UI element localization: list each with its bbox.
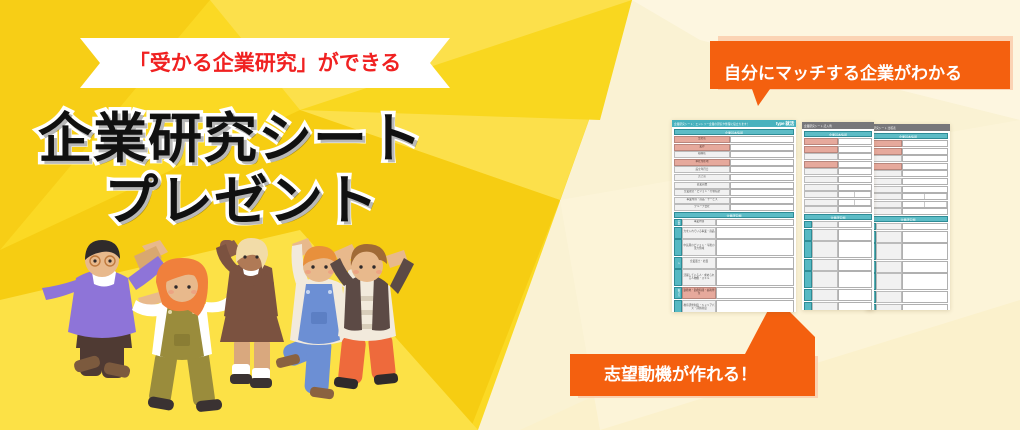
table-row: 企業事業内容 bbox=[674, 219, 794, 226]
sheet-header-title: 企業研究シート 記入例 bbox=[804, 123, 832, 127]
promo-banner: 「受かる企業研究」ができる 企業研究シート プレゼント bbox=[0, 0, 1020, 430]
table-row: 人企業風土・社風 bbox=[674, 257, 794, 269]
callout-match-label: 自分にマッチする企業がわかる bbox=[724, 65, 962, 82]
table-row: 本社所在地 bbox=[674, 159, 794, 166]
input-cell[interactable] bbox=[716, 269, 794, 286]
ribbon-label: 「受かる企業研究」ができる bbox=[129, 53, 402, 74]
sheet-detail-rows bbox=[868, 223, 948, 310]
table-row: 働き方勤務地・勤務時間・福利厚生 bbox=[674, 287, 794, 299]
table-row: 事業内容・商品・サービス bbox=[674, 197, 794, 204]
sheet-header-bar: 企業研究シート：エントリー企業の研究や整理に役立ちます！ type 就活 bbox=[672, 120, 796, 127]
table-row: 設立年月日 bbox=[674, 166, 794, 173]
sheet-body: 企業基本情報 企業研究欄 bbox=[866, 131, 950, 310]
sheet-section-detail: 企業研究欄 bbox=[674, 212, 794, 218]
headline-line-1: 企業研究シート bbox=[38, 112, 498, 166]
input-cell[interactable] bbox=[730, 159, 794, 166]
input-cell[interactable] bbox=[716, 219, 794, 226]
sheet-section-basic: 企業基本情報 bbox=[674, 129, 794, 135]
input-cell[interactable] bbox=[730, 144, 794, 151]
sheet-header-title: 企業研究シート：エントリー企業の研究や整理に役立ちます！ bbox=[674, 121, 749, 125]
input-cell[interactable] bbox=[730, 204, 794, 211]
sheet-thumbnail-tertiary[interactable]: 企業研究シート 比較表 企業基本情報 企業研究欄 bbox=[866, 124, 950, 310]
input-cell[interactable] bbox=[730, 182, 794, 189]
sheet-header-bar: 企業研究シート 記入例 bbox=[802, 122, 874, 129]
table-row: グループ会社 bbox=[674, 204, 794, 211]
five-jumping-students-illustration bbox=[34, 238, 454, 430]
table-row: 業界 bbox=[674, 144, 794, 151]
table-row: 従業員数 bbox=[674, 182, 794, 189]
table-row: 中長期のビジョン・今後の注力領域 bbox=[674, 239, 794, 256]
input-cell[interactable] bbox=[730, 189, 794, 196]
table-row: 売上高 bbox=[674, 174, 794, 181]
table-row: 力を入れている事業・商品 bbox=[674, 227, 794, 239]
sheet-detail-rows: 企業事業内容 力を入れている事業・商品 中長期のビジョン・今後の注力領域 人企業… bbox=[674, 219, 794, 312]
input-cell[interactable] bbox=[730, 151, 794, 158]
sheet-thumbnail-secondary[interactable]: 企業研究シート 記入例 企業基本情報 企業研究欄 bbox=[802, 122, 874, 310]
sheet-section-detail: 企業研究欄 bbox=[804, 214, 872, 220]
input-cell[interactable] bbox=[730, 166, 794, 173]
table-row: 教育研修制度・キャリアパス・評価制度 bbox=[674, 300, 794, 313]
input-cell[interactable] bbox=[730, 174, 794, 181]
sheet-detail-rows bbox=[804, 221, 872, 310]
page-title: 企業研究シート プレゼント bbox=[38, 112, 498, 228]
sheet-thumbnail-primary[interactable]: 企業研究シート：エントリー企業の研究や整理に役立ちます！ type 就活 企業基… bbox=[672, 120, 796, 312]
input-cell[interactable] bbox=[716, 227, 794, 239]
sheet-basic-rows bbox=[868, 140, 948, 215]
input-cell[interactable] bbox=[716, 287, 794, 299]
input-cell[interactable] bbox=[730, 136, 794, 143]
callout-motive-label: 志望動機が作れる！ bbox=[604, 366, 757, 383]
headline-line-2: プレゼント bbox=[104, 174, 498, 228]
sheet-body: 企業基本情報 会社名 業界 職種名 本社所在地 設立年月日 売上高 従業員数 企… bbox=[672, 127, 796, 312]
sheet-header-bar: 企業研究シート 比較表 bbox=[866, 124, 950, 131]
sheet-section-detail: 企業研究欄 bbox=[868, 216, 948, 222]
ribbon-banner: 「受かる企業研究」ができる bbox=[80, 38, 450, 88]
sheet-basic-rows: 会社名 業界 職種名 本社所在地 設立年月日 売上高 従業員数 企業理念・ビジョ… bbox=[674, 136, 794, 211]
type-shukatsu-logo: type 就活 bbox=[776, 121, 794, 127]
table-row: 職種名 bbox=[674, 151, 794, 158]
table-row: 活躍している人・求められる人物像・スキル bbox=[674, 269, 794, 286]
input-cell[interactable] bbox=[716, 257, 794, 269]
table-row: 会社名 bbox=[674, 136, 794, 143]
sheet-section-basic: 企業基本情報 bbox=[804, 131, 872, 137]
input-cell[interactable] bbox=[730, 197, 794, 204]
input-cell[interactable] bbox=[716, 239, 794, 256]
sheet-body: 企業基本情報 企業研究欄 bbox=[802, 129, 874, 310]
table-row: 企業理念・ビジョン・行動指針 bbox=[674, 189, 794, 196]
sheet-basic-rows bbox=[804, 138, 872, 213]
person-5 bbox=[330, 244, 414, 390]
sheet-section-basic: 企業基本情報 bbox=[868, 133, 948, 139]
input-cell[interactable] bbox=[716, 300, 794, 313]
person-3 bbox=[216, 238, 284, 388]
